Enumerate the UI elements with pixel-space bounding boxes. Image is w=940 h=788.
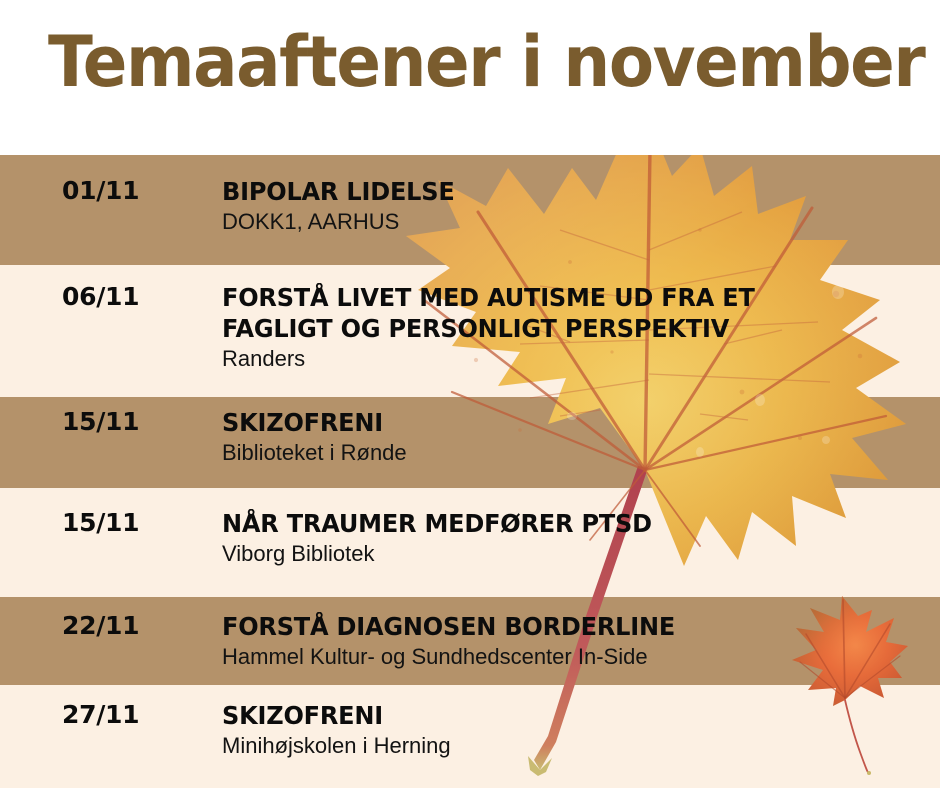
page-title: Temaaftener i november	[48, 24, 924, 101]
event-date: 01/11	[62, 176, 139, 205]
event-body: BIPOLAR LIDELSEDOKK1, AARHUS	[222, 176, 930, 236]
event-body: SKIZOFRENIMinihøjskolen i Herning	[222, 700, 930, 760]
event-date: 06/11	[62, 282, 139, 311]
event-body: NÅR TRAUMER MEDFØRER PTSDViborg Bibliote…	[222, 508, 930, 568]
event-venue: Hammel Kultur- og Sundhedscenter In-Side	[222, 643, 930, 671]
event-venue: DOKK1, AARHUS	[222, 208, 930, 236]
event-venue: Randers	[222, 345, 930, 373]
event-venue: Viborg Bibliotek	[222, 540, 930, 568]
event-date: 22/11	[62, 611, 139, 640]
event-title: NÅR TRAUMER MEDFØRER PTSD	[222, 508, 902, 539]
event-body: FORSTÅ DIAGNOSEN BORDERLINEHammel Kultur…	[222, 611, 930, 671]
event-venue: Minihøjskolen i Herning	[222, 732, 930, 760]
event-title: SKIZOFRENI	[222, 700, 902, 731]
event-date: 15/11	[62, 508, 139, 537]
event-title: FORSTÅ LIVET MED AUTISME UD FRA ET FAGLI…	[222, 282, 902, 344]
header-block: Temaaftener i november	[0, 0, 940, 155]
event-body: FORSTÅ LIVET MED AUTISME UD FRA ET FAGLI…	[222, 282, 930, 373]
poster-canvas: Temaaftener i november 01/11BIPOLAR LIDE…	[0, 0, 940, 788]
event-body: SKIZOFRENIBiblioteket i Rønde	[222, 407, 930, 467]
event-date: 15/11	[62, 407, 139, 436]
event-title: FORSTÅ DIAGNOSEN BORDERLINE	[222, 611, 902, 642]
event-venue: Biblioteket i Rønde	[222, 439, 930, 467]
event-title: BIPOLAR LIDELSE	[222, 176, 902, 207]
event-date: 27/11	[62, 700, 139, 729]
event-title: SKIZOFRENI	[222, 407, 902, 438]
